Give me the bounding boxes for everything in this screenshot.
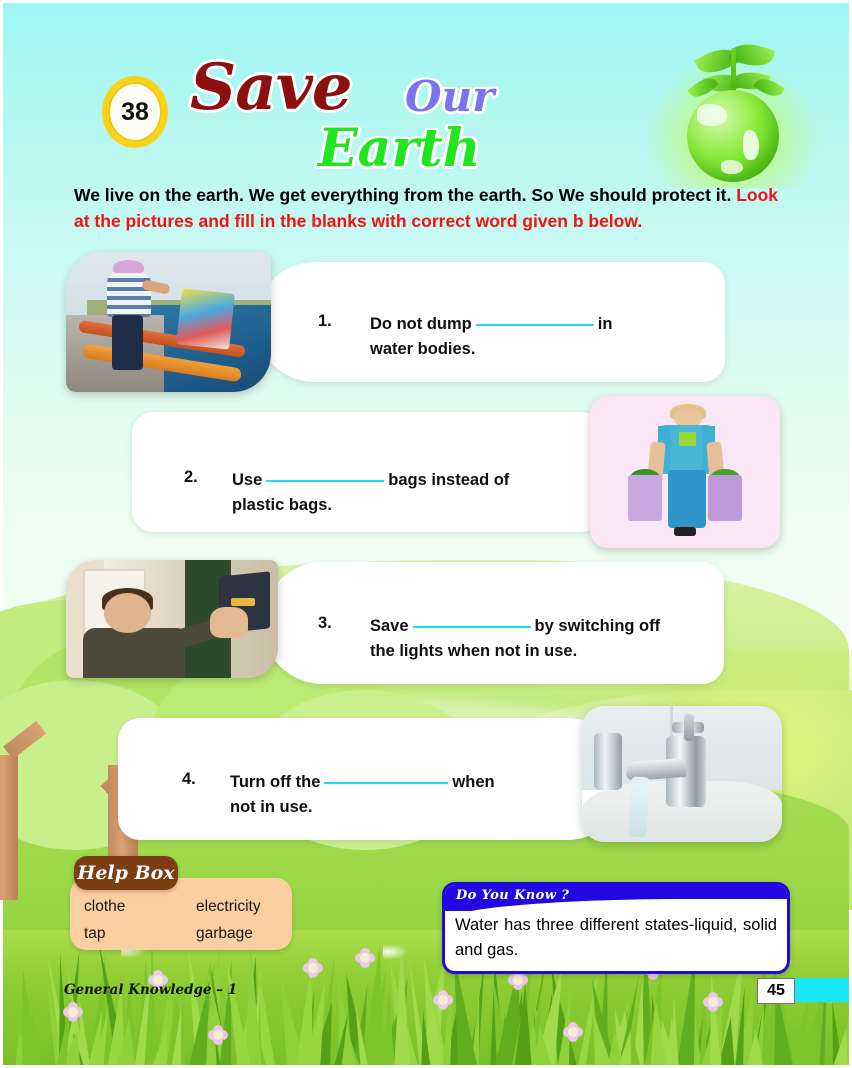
help-word-garbage[interactable]: garbage xyxy=(196,925,253,943)
grass-blade xyxy=(514,983,534,1065)
question-image-3 xyxy=(66,560,278,678)
help-word-electricity[interactable]: electricity xyxy=(196,898,261,916)
page-title: Save Our Earth xyxy=(190,50,620,180)
photo-badge xyxy=(679,432,696,446)
photo-switch-button xyxy=(231,598,254,606)
question-text-2-after: bags instead of xyxy=(388,471,509,489)
question-text-1-before: Do not dump xyxy=(370,315,472,333)
question-image-2 xyxy=(590,396,780,548)
globe-landmass xyxy=(743,130,759,160)
flower-icon xyxy=(63,1002,83,1022)
flower-icon xyxy=(303,958,323,978)
question-number-2: 2. xyxy=(184,468,198,487)
photo-tap-handle xyxy=(684,714,694,741)
do-you-know-title: Do You Know ? xyxy=(456,888,569,903)
photo-garbage-bag xyxy=(176,289,235,350)
photo-hand xyxy=(210,607,248,638)
photo-tap-secondary xyxy=(594,733,622,790)
question-text-3-after: by switching off xyxy=(535,617,661,635)
title-word-save: Save xyxy=(190,50,352,125)
question-number-1: 1. xyxy=(318,312,332,331)
instruction-text: We live on the earth. We get everything … xyxy=(74,182,780,234)
grass-blade xyxy=(116,1018,139,1065)
do-you-know-box: Do You Know ? Water has three different … xyxy=(442,882,790,974)
question-image-4 xyxy=(582,706,782,842)
question-number-4: 4. xyxy=(182,770,196,789)
globe-landmass xyxy=(697,104,727,126)
question-text-3-line2: the lights when not in use. xyxy=(370,642,577,660)
photo-cloth-bag xyxy=(628,475,662,521)
flower-icon xyxy=(563,1022,583,1042)
photo-person xyxy=(107,260,160,369)
globe-sphere xyxy=(687,90,779,182)
flower-icon xyxy=(355,948,375,968)
question-text-1-after: in xyxy=(598,315,613,333)
tree-trunk xyxy=(0,755,18,900)
chapter-number-badge: 38 xyxy=(102,76,168,148)
question-number-3: 3. xyxy=(318,614,332,633)
help-word-tap[interactable]: tap xyxy=(84,925,106,943)
question-text-1-line2: water bodies. xyxy=(370,340,475,358)
help-box-tab: Help Box xyxy=(74,856,178,890)
title-word-our: Our xyxy=(405,72,494,121)
photo-helmet xyxy=(113,260,144,274)
question-text-4-before: Turn off the xyxy=(230,773,320,791)
flower-icon xyxy=(703,992,723,1012)
grass-blade xyxy=(647,1000,668,1065)
photo-cloth-bag xyxy=(708,475,742,521)
photo-trousers xyxy=(112,315,143,370)
eco-globe-icon xyxy=(645,28,820,188)
answer-blank-2[interactable] xyxy=(266,480,384,482)
flower-icon xyxy=(208,1025,228,1045)
photo-trousers xyxy=(668,470,706,528)
dandelion-seed-icon xyxy=(383,944,409,960)
photo-shoe xyxy=(674,527,697,536)
worksheet-page: 38 Save Our Earth We live on the earth. … xyxy=(0,0,852,1068)
do-you-know-text: Water has three different states-liquid,… xyxy=(455,913,777,963)
question-text-3-before: Save xyxy=(370,617,409,635)
question-text-4-after: when xyxy=(452,773,494,791)
question-image-1 xyxy=(66,252,271,392)
flower-icon xyxy=(433,990,453,1010)
question-text-2-line2: plastic bags. xyxy=(232,496,332,514)
help-box-title: Help Box xyxy=(77,862,174,884)
answer-blank-3[interactable] xyxy=(413,626,531,628)
question-text-4-line2: not in use. xyxy=(230,798,313,816)
page-number: 45 xyxy=(757,978,795,1004)
title-word-earth: Earth xyxy=(318,118,481,179)
help-word-clothe[interactable]: clothe xyxy=(84,898,125,916)
answer-blank-1[interactable] xyxy=(476,324,594,326)
globe-landmass xyxy=(721,160,743,174)
photo-head xyxy=(104,593,151,633)
instruction-black: We live on the earth. We get everything … xyxy=(74,185,736,205)
grass-blade xyxy=(670,997,679,1065)
question-text-2-before: Use xyxy=(232,471,262,489)
photo-water-stream xyxy=(628,776,649,837)
grass-blade xyxy=(746,1030,765,1065)
answer-blank-4[interactable] xyxy=(324,782,448,784)
footer-book-title: General Knowledge – 1 xyxy=(64,982,237,998)
